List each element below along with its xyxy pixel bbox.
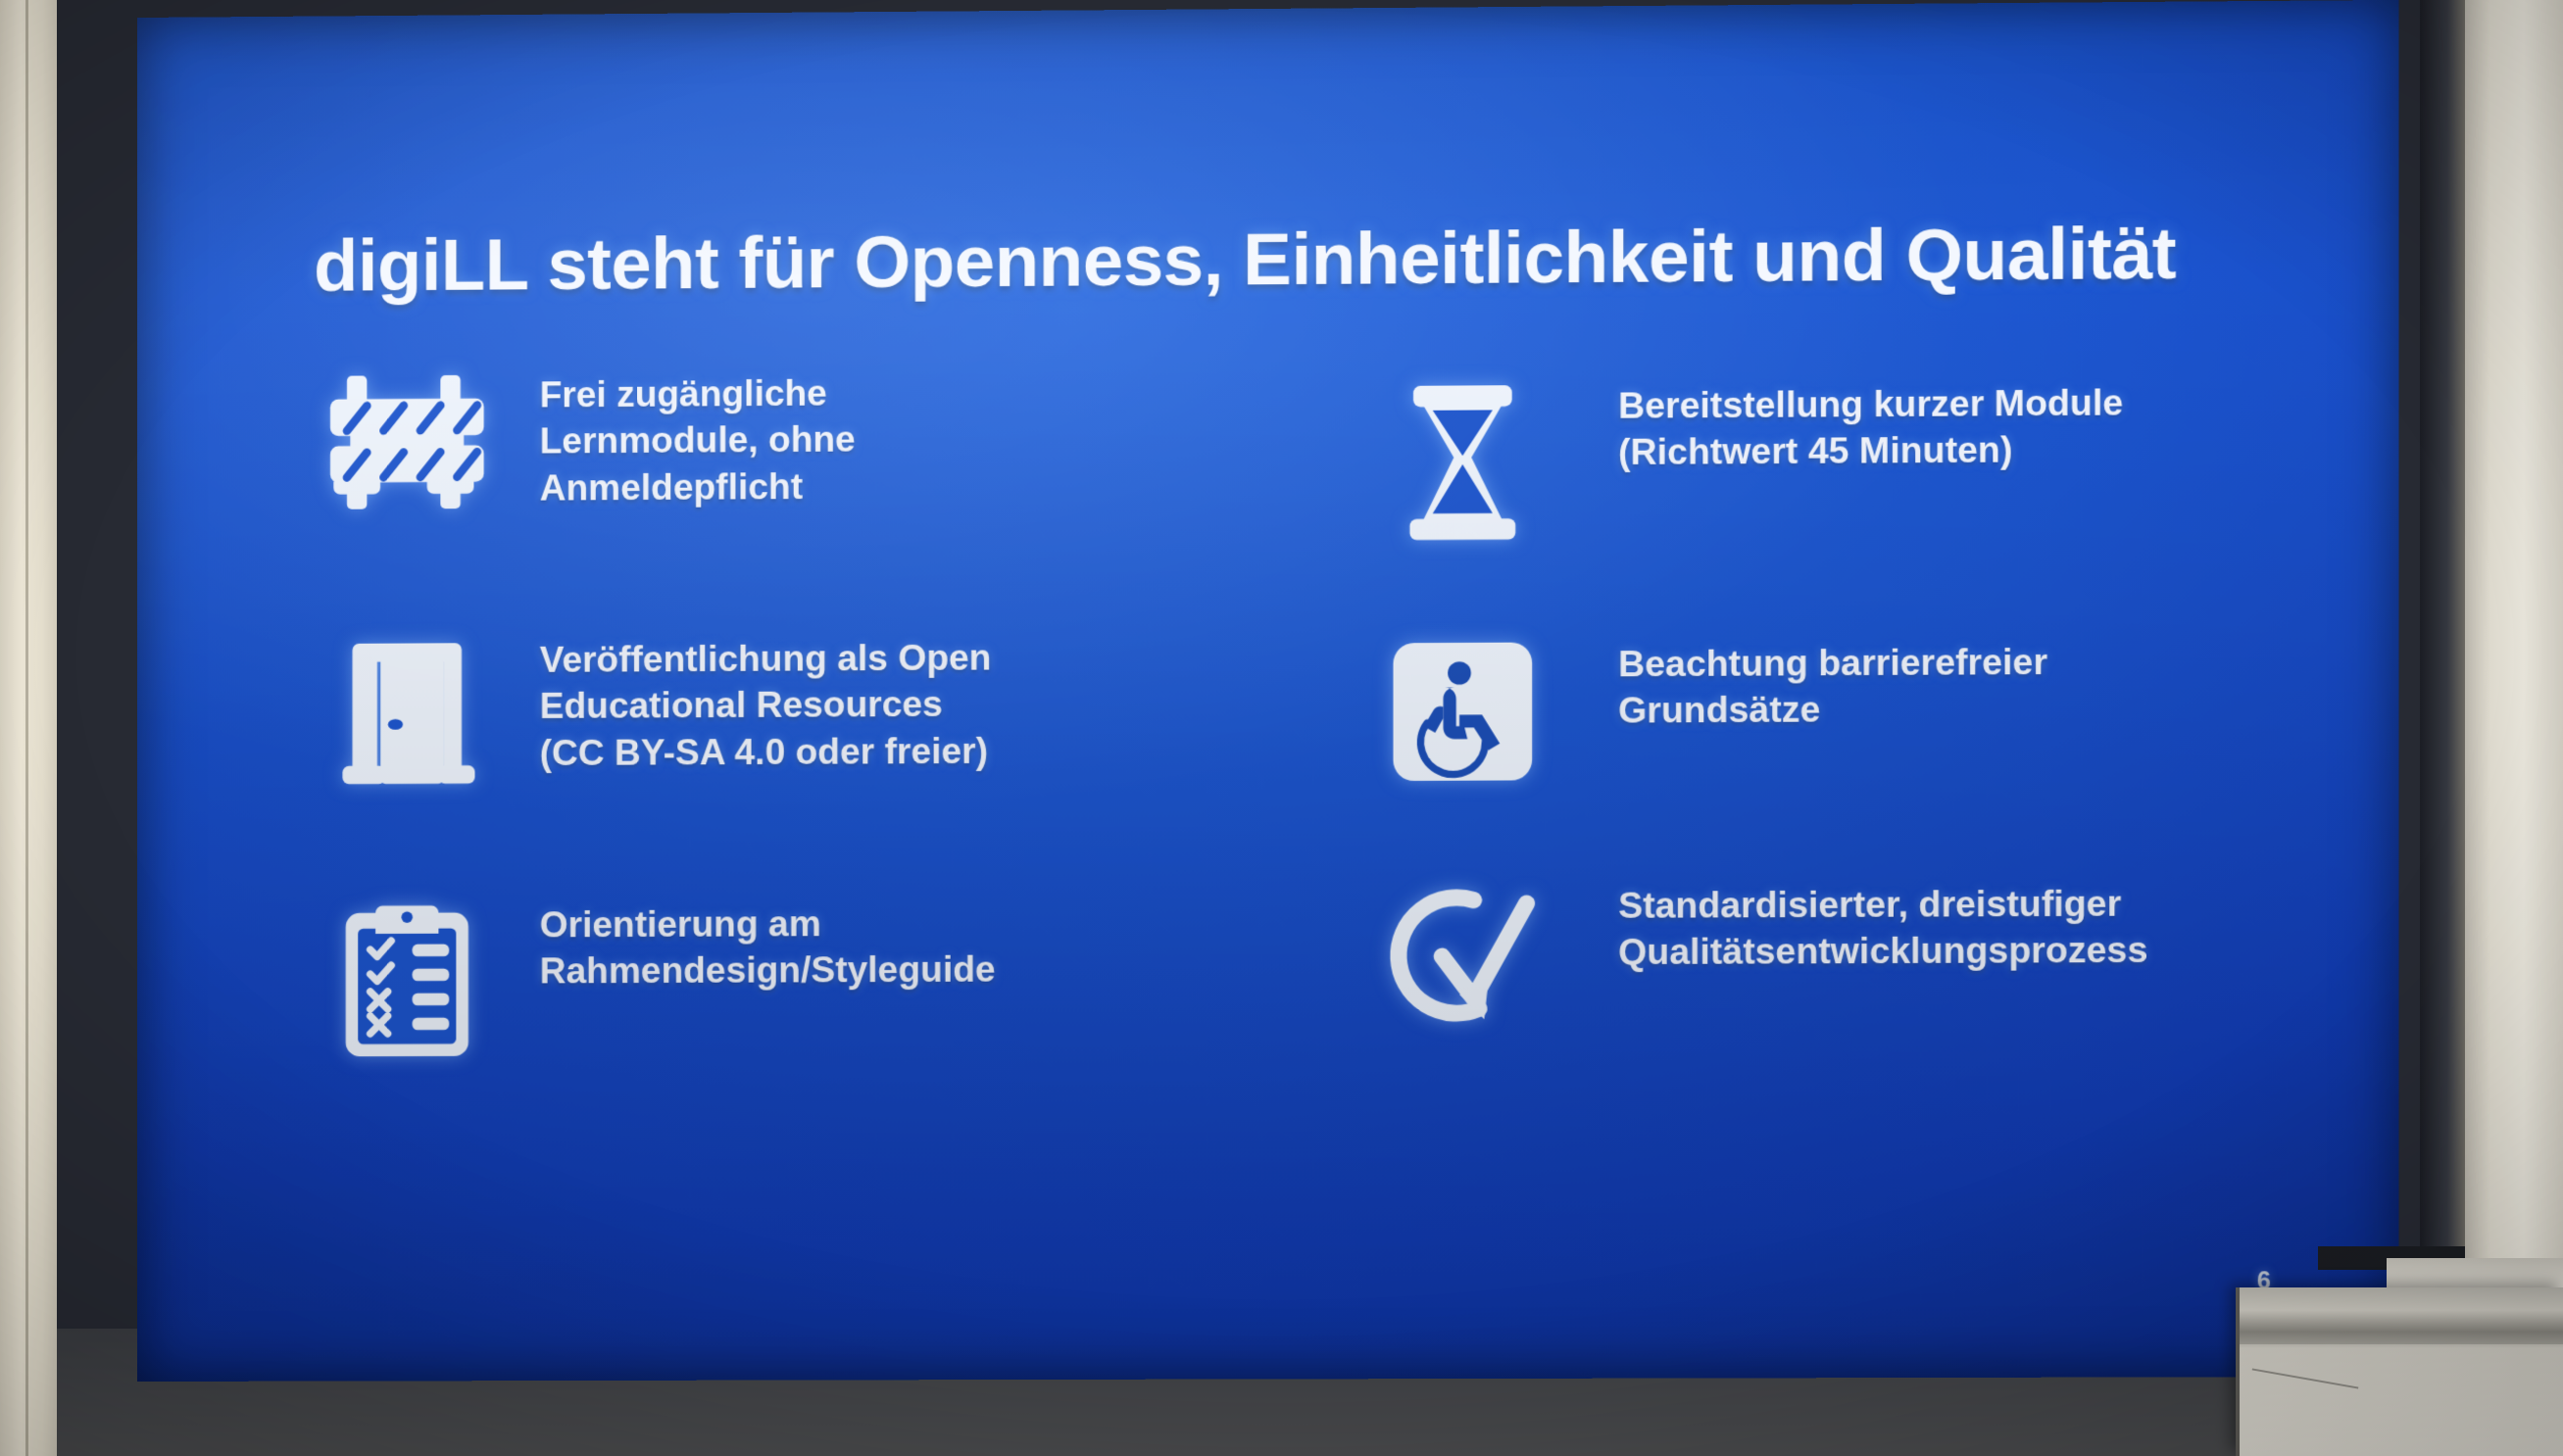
clipboard-checklist-icon [294, 898, 519, 1060]
feature-item-text: Frei zugängliche Lernmodule, ohne Anmeld… [520, 365, 856, 510]
road-barrier-icon [294, 368, 519, 517]
right-bezel-shadow [2420, 0, 2465, 1456]
feature-line: Veröffentlichung als Open [540, 634, 992, 683]
feature-item-text: Beachtung barrierefreier Grundsätze [1577, 635, 2047, 735]
feature-line: Orientierung am [540, 899, 996, 947]
feature-line: Standardisierter, dreistufiger [1618, 880, 2147, 929]
feature-line: Lernmodule, ohne [540, 416, 856, 464]
flipchart-crease [2252, 1368, 2359, 1388]
feature-item-text: Standardisierter, dreistufiger Qualitäts… [1577, 876, 2148, 976]
flipchart-top-edge [2387, 1258, 2563, 1287]
feature-line: Beachtung barrierefreier [1618, 639, 2047, 688]
room-photo-stage: digiLL steht für Openness, Einheitlichke… [0, 0, 2563, 1456]
feature-column-right: Bereitstellung kurzer Module (Richtwert … [1349, 356, 2383, 363]
feature-item-barrierefreiheit: Beachtung barrierefreier Grundsätze [1349, 635, 2047, 786]
wheelchair-accessibility-icon [1349, 637, 1577, 786]
feature-line: Bereitstellung kurzer Module [1618, 379, 2123, 429]
feature-line: (CC BY-SA 4.0 oder freier) [540, 727, 992, 776]
feature-item-bereitstellung-kurzer-module: Bereitstellung kurzer Module (Richtwert … [1349, 375, 2123, 543]
feature-item-qualitaetsprozess: Standardisierter, dreistufiger Qualitäts… [1349, 876, 2147, 1037]
feature-line: Grundsätze [1618, 686, 2047, 735]
hourglass-icon [1349, 379, 1577, 543]
feature-line: (Richtwert 45 Minuten) [1618, 426, 2123, 476]
projected-slide: digiLL steht für Openness, Einheitlichke… [137, 0, 2398, 1382]
wall-seam [25, 0, 28, 1456]
feature-column-left: Frei zugängliche Lernmodule, ohne Anmeld… [294, 363, 1319, 369]
feature-line: Rahmendesign/Styleguide [540, 946, 996, 995]
left-wall [0, 0, 61, 1456]
feature-grid: Frei zugängliche Lernmodule, ohne Anmeld… [137, 356, 2398, 370]
quality-cycle-check-icon [1349, 879, 1577, 1038]
feature-item-text: Bereitstellung kurzer Module (Richtwert … [1577, 375, 2124, 476]
flipchart-board [2236, 1287, 2563, 1456]
feature-line: Anmeldepflicht [540, 462, 856, 510]
feature-item-frei-zugaengliche-lernmodule: Frei zugängliche Lernmodule, ohne Anmeld… [294, 365, 856, 516]
feature-item-text: Orientierung am Rahmendesign/Styleguide [520, 896, 996, 995]
right-wall [2465, 0, 2563, 1456]
feature-line: Frei zugängliche [540, 369, 856, 417]
feature-line: Qualitätsentwicklungsprozess [1618, 927, 2147, 976]
open-door-icon [294, 633, 519, 786]
flipchart-rail [2240, 1287, 2563, 1344]
page-title: digiLL steht für Openness, Einheitlichke… [314, 211, 2176, 307]
feature-line: Educational Resources [540, 681, 992, 730]
feature-item-text: Veröffentlichung als Open Educational Re… [520, 630, 992, 776]
feature-item-veroeffentlichung-oer: Veröffentlichung als Open Educational Re… [294, 630, 991, 786]
feature-item-orientierung-rahmendesign: Orientierung am Rahmendesign/Styleguide [294, 896, 996, 1060]
